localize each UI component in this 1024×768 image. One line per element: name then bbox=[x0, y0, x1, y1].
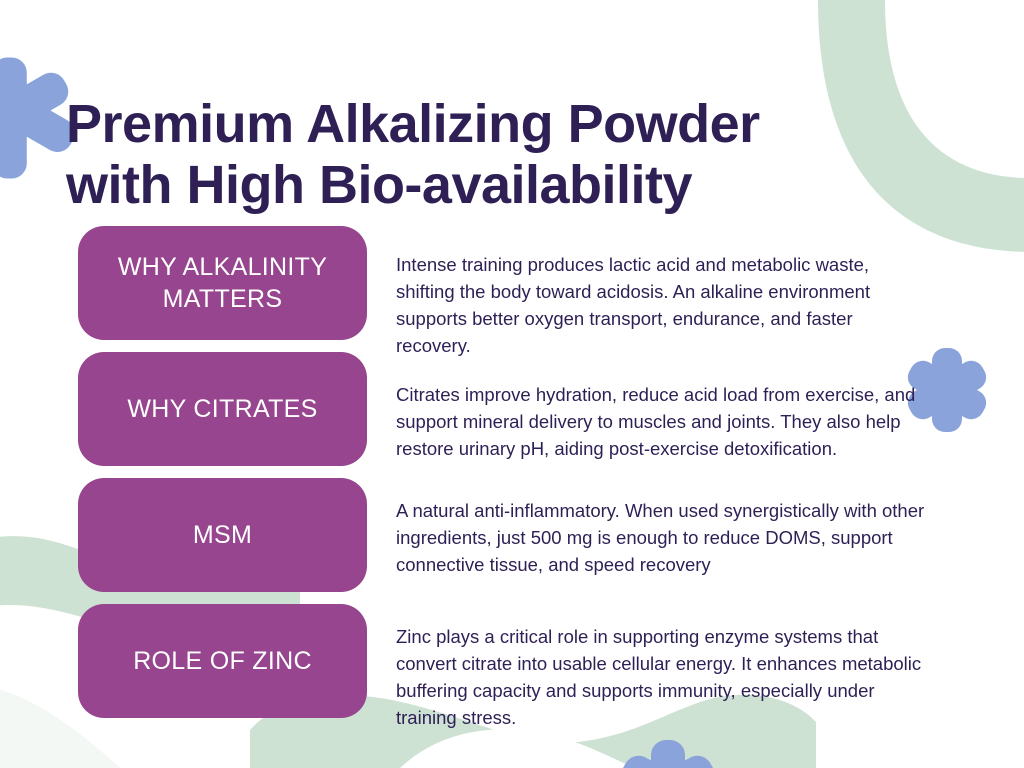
section-pill-label: WHY CITRATES bbox=[127, 393, 317, 426]
section-description: Zinc plays a critical role in supporting… bbox=[396, 623, 926, 732]
section-pill-msm[interactable]: MSM bbox=[78, 478, 367, 592]
section-description: A natural anti-inflammatory. When used s… bbox=[396, 497, 926, 579]
section-description: Citrates improve hydration, reduce acid … bbox=[396, 381, 926, 463]
section-pill-label: WHY ALKALINITY MATTERS bbox=[96, 251, 349, 316]
section-row: ROLE OF ZINC Zinc plays a critical role … bbox=[0, 604, 1024, 730]
section-pill-why-alkalinity-matters[interactable]: WHY ALKALINITY MATTERS bbox=[78, 226, 367, 340]
section-pill-why-citrates[interactable]: WHY CITRATES bbox=[78, 352, 367, 466]
page-title-line-1: Premium Alkalizing Powder bbox=[66, 94, 946, 154]
section-pill-label: ROLE OF ZINC bbox=[133, 645, 312, 678]
section-row: MSM A natural anti-inflammatory. When us… bbox=[0, 478, 1024, 604]
page-title-line-2: with High Bio-availability bbox=[66, 155, 946, 215]
section-row: WHY CITRATES Citrates improve hydration,… bbox=[0, 352, 1024, 478]
poster-canvas: Premium Alkalizing Powder with High Bio-… bbox=[0, 0, 1024, 768]
section-pill-role-of-zinc[interactable]: ROLE OF ZINC bbox=[78, 604, 367, 718]
page-title: Premium Alkalizing Powder with High Bio-… bbox=[66, 94, 946, 215]
poster-content: Premium Alkalizing Powder with High Bio-… bbox=[0, 0, 1024, 768]
section-row: WHY ALKALINITY MATTERS Intense training … bbox=[0, 226, 1024, 352]
section-description: Intense training produces lactic acid an… bbox=[396, 251, 926, 360]
section-list: WHY ALKALINITY MATTERS Intense training … bbox=[0, 226, 1024, 730]
section-pill-label: MSM bbox=[193, 519, 252, 552]
